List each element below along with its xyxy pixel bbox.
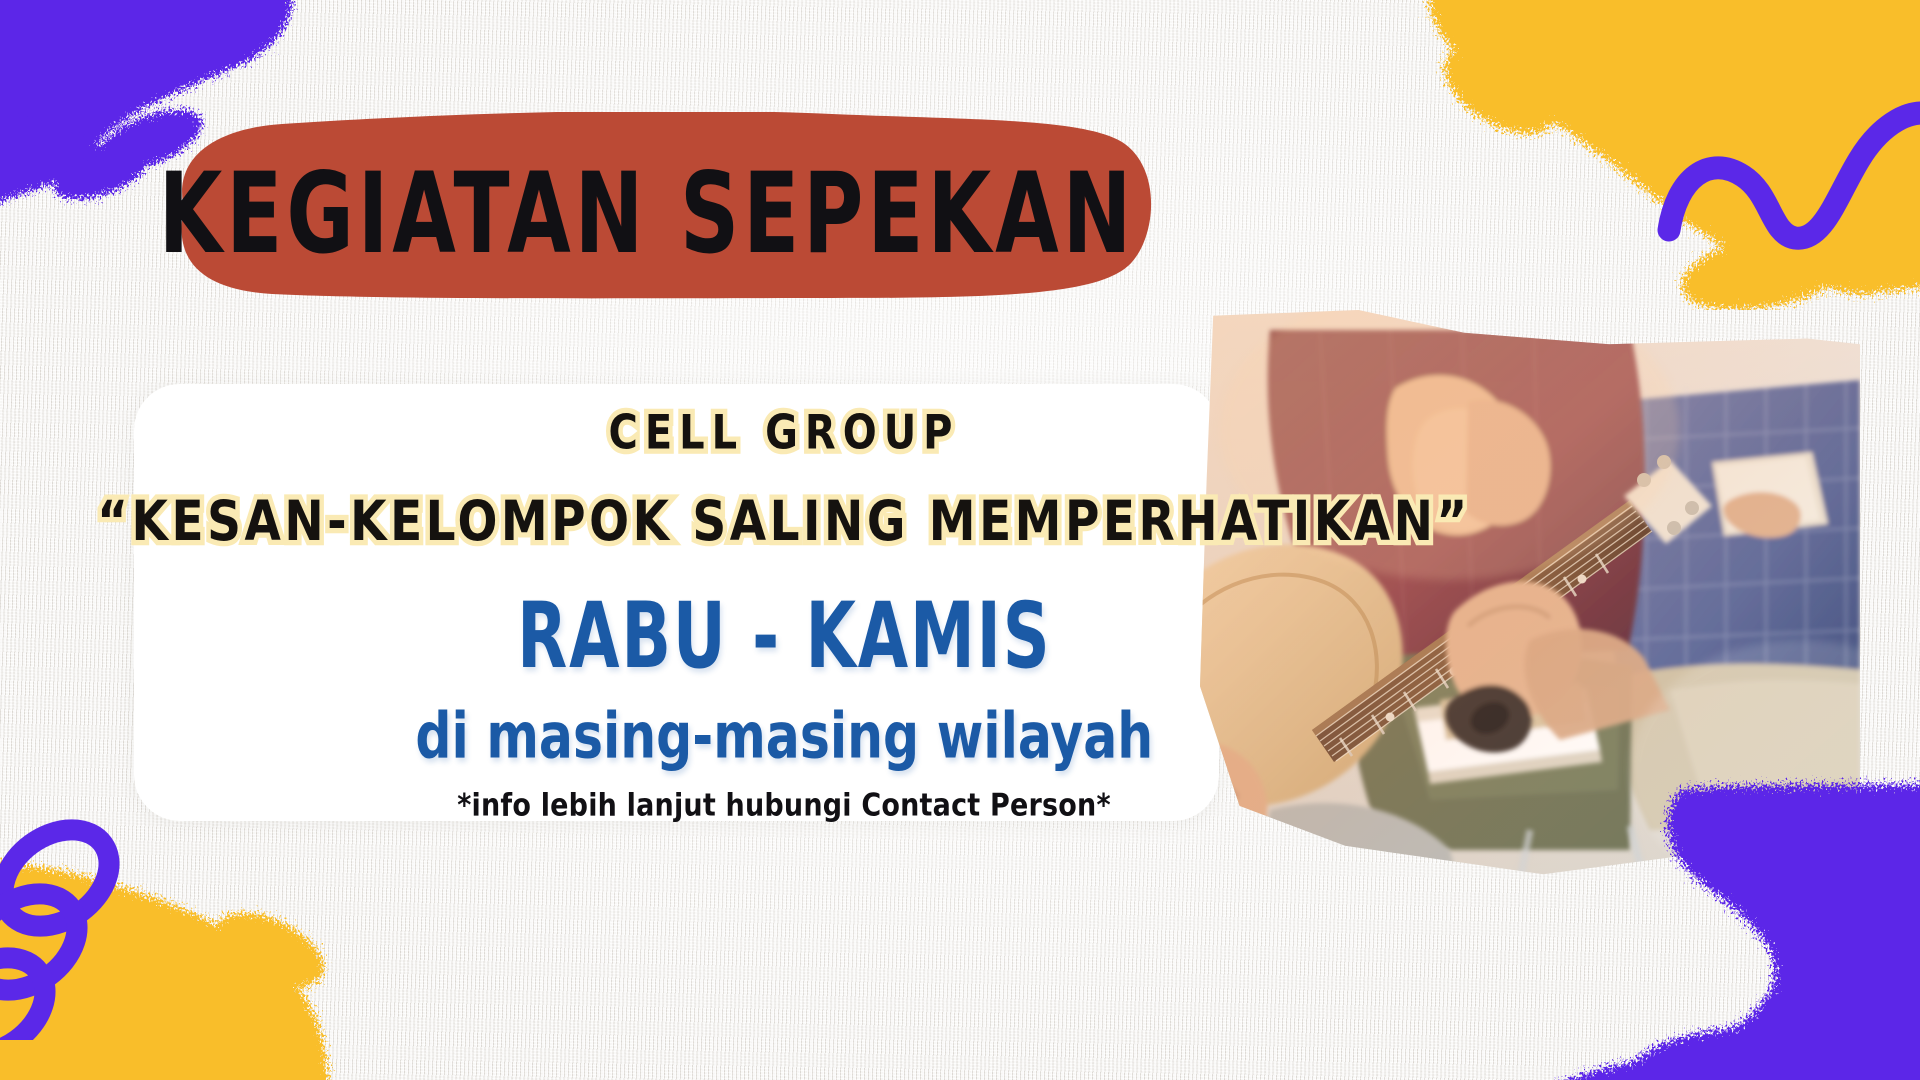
card-text-block: CELL GROUP “KESAN-KELOMPOK SALING MEMPER… [134, 384, 1434, 821]
title-banner: KEGIATAN SEPEKAN [132, 112, 1162, 302]
cell-group-label: CELL GROUP [608, 406, 959, 460]
poster-canvas: KEGIATAN SEPEKAN [0, 0, 1920, 1080]
schedule-location: di masing-masing wilayah [415, 700, 1153, 773]
contact-person-note: *info lebih lanjut hubungi Contact Perso… [457, 788, 1111, 824]
cell-group-quote: “KESAN-KELOMPOK SALING MEMPERHATIKAN” [97, 489, 1471, 554]
page-title: KEGIATAN SEPEKAN [137, 86, 1157, 341]
schedule-days: RABU - KAMIS [517, 583, 1051, 690]
